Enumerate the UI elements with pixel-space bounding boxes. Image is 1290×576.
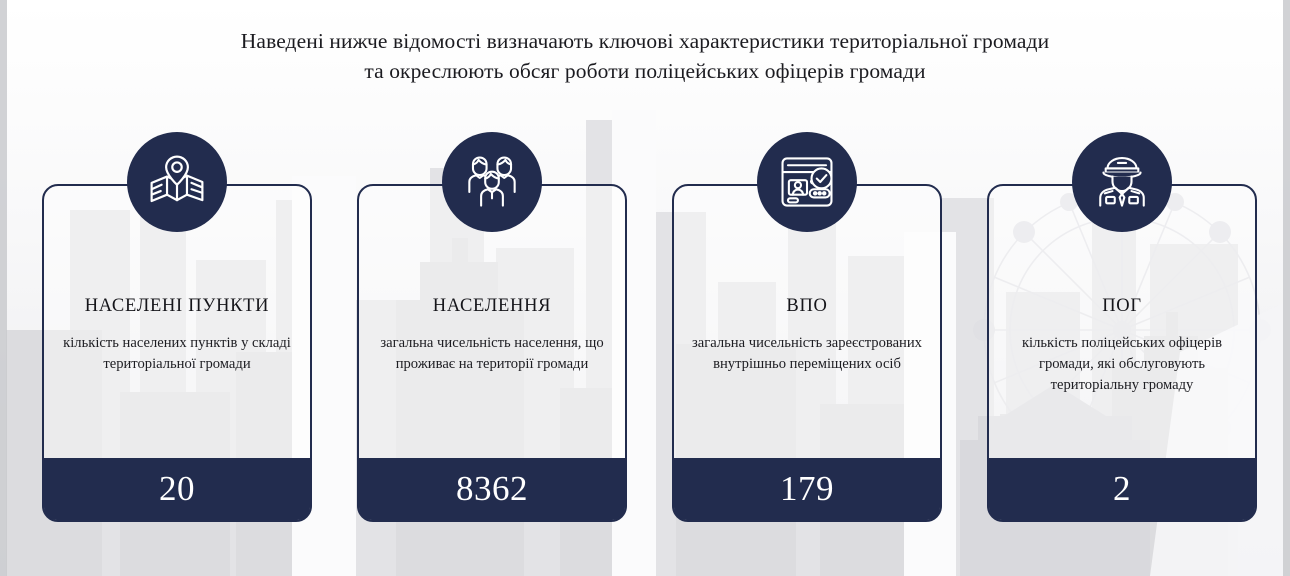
stat-card-icon-badge [757, 132, 857, 232]
stat-card-icon-badge [127, 132, 227, 232]
stat-card-description: кількість населених пунктів у складі тер… [58, 333, 296, 375]
people-group-icon [463, 153, 521, 211]
map-pin-icon [148, 153, 206, 211]
stat-card-title: НАСЕЛЕНІ ПУНКТИ [85, 296, 270, 317]
stat-card-title: НАСЕЛЕННЯ [433, 296, 551, 317]
stat-card-title: ВПО [786, 296, 827, 317]
stats-card-row: НАСЕЛЕНІ ПУНКТИ кількість населених пунк… [0, 0, 1290, 576]
stat-card-value: 20 [44, 458, 310, 520]
stat-card-title: ПОГ [1102, 296, 1142, 317]
stat-card-value: 179 [674, 458, 940, 520]
page-title-line-1: Наведені нижче відомості визначають ключ… [0, 26, 1290, 56]
stat-card-idp[interactable]: ВПО загальна чисельність зареєстрованих … [672, 184, 942, 522]
stat-card-value: 8362 [359, 458, 625, 520]
stat-card-icon-badge [442, 132, 542, 232]
stat-card-police-officers[interactable]: ПОГ кількість поліцейських офіцерів гром… [987, 184, 1257, 522]
stat-card-population[interactable]: НАСЕЛЕННЯ загальна чисельність населення… [357, 184, 627, 522]
stat-card-description: загальна чисельність зареєстрованих внут… [688, 333, 926, 375]
page-title: Наведені нижче відомості визначають ключ… [0, 26, 1290, 86]
stat-card-value: 2 [989, 458, 1255, 520]
id-card-check-icon [778, 153, 836, 211]
stat-card-icon-badge [1072, 132, 1172, 232]
stat-card-settlements[interactable]: НАСЕЛЕНІ ПУНКТИ кількість населених пунк… [42, 184, 312, 522]
page-title-line-2: та окреслюють обсяг роботи поліцейських … [0, 56, 1290, 86]
stat-card-description: загальна чисельність населення, що прожи… [373, 333, 611, 375]
stat-card-description: кількість поліцейських офіцерів громади,… [1003, 333, 1241, 396]
police-officer-icon [1093, 153, 1151, 211]
